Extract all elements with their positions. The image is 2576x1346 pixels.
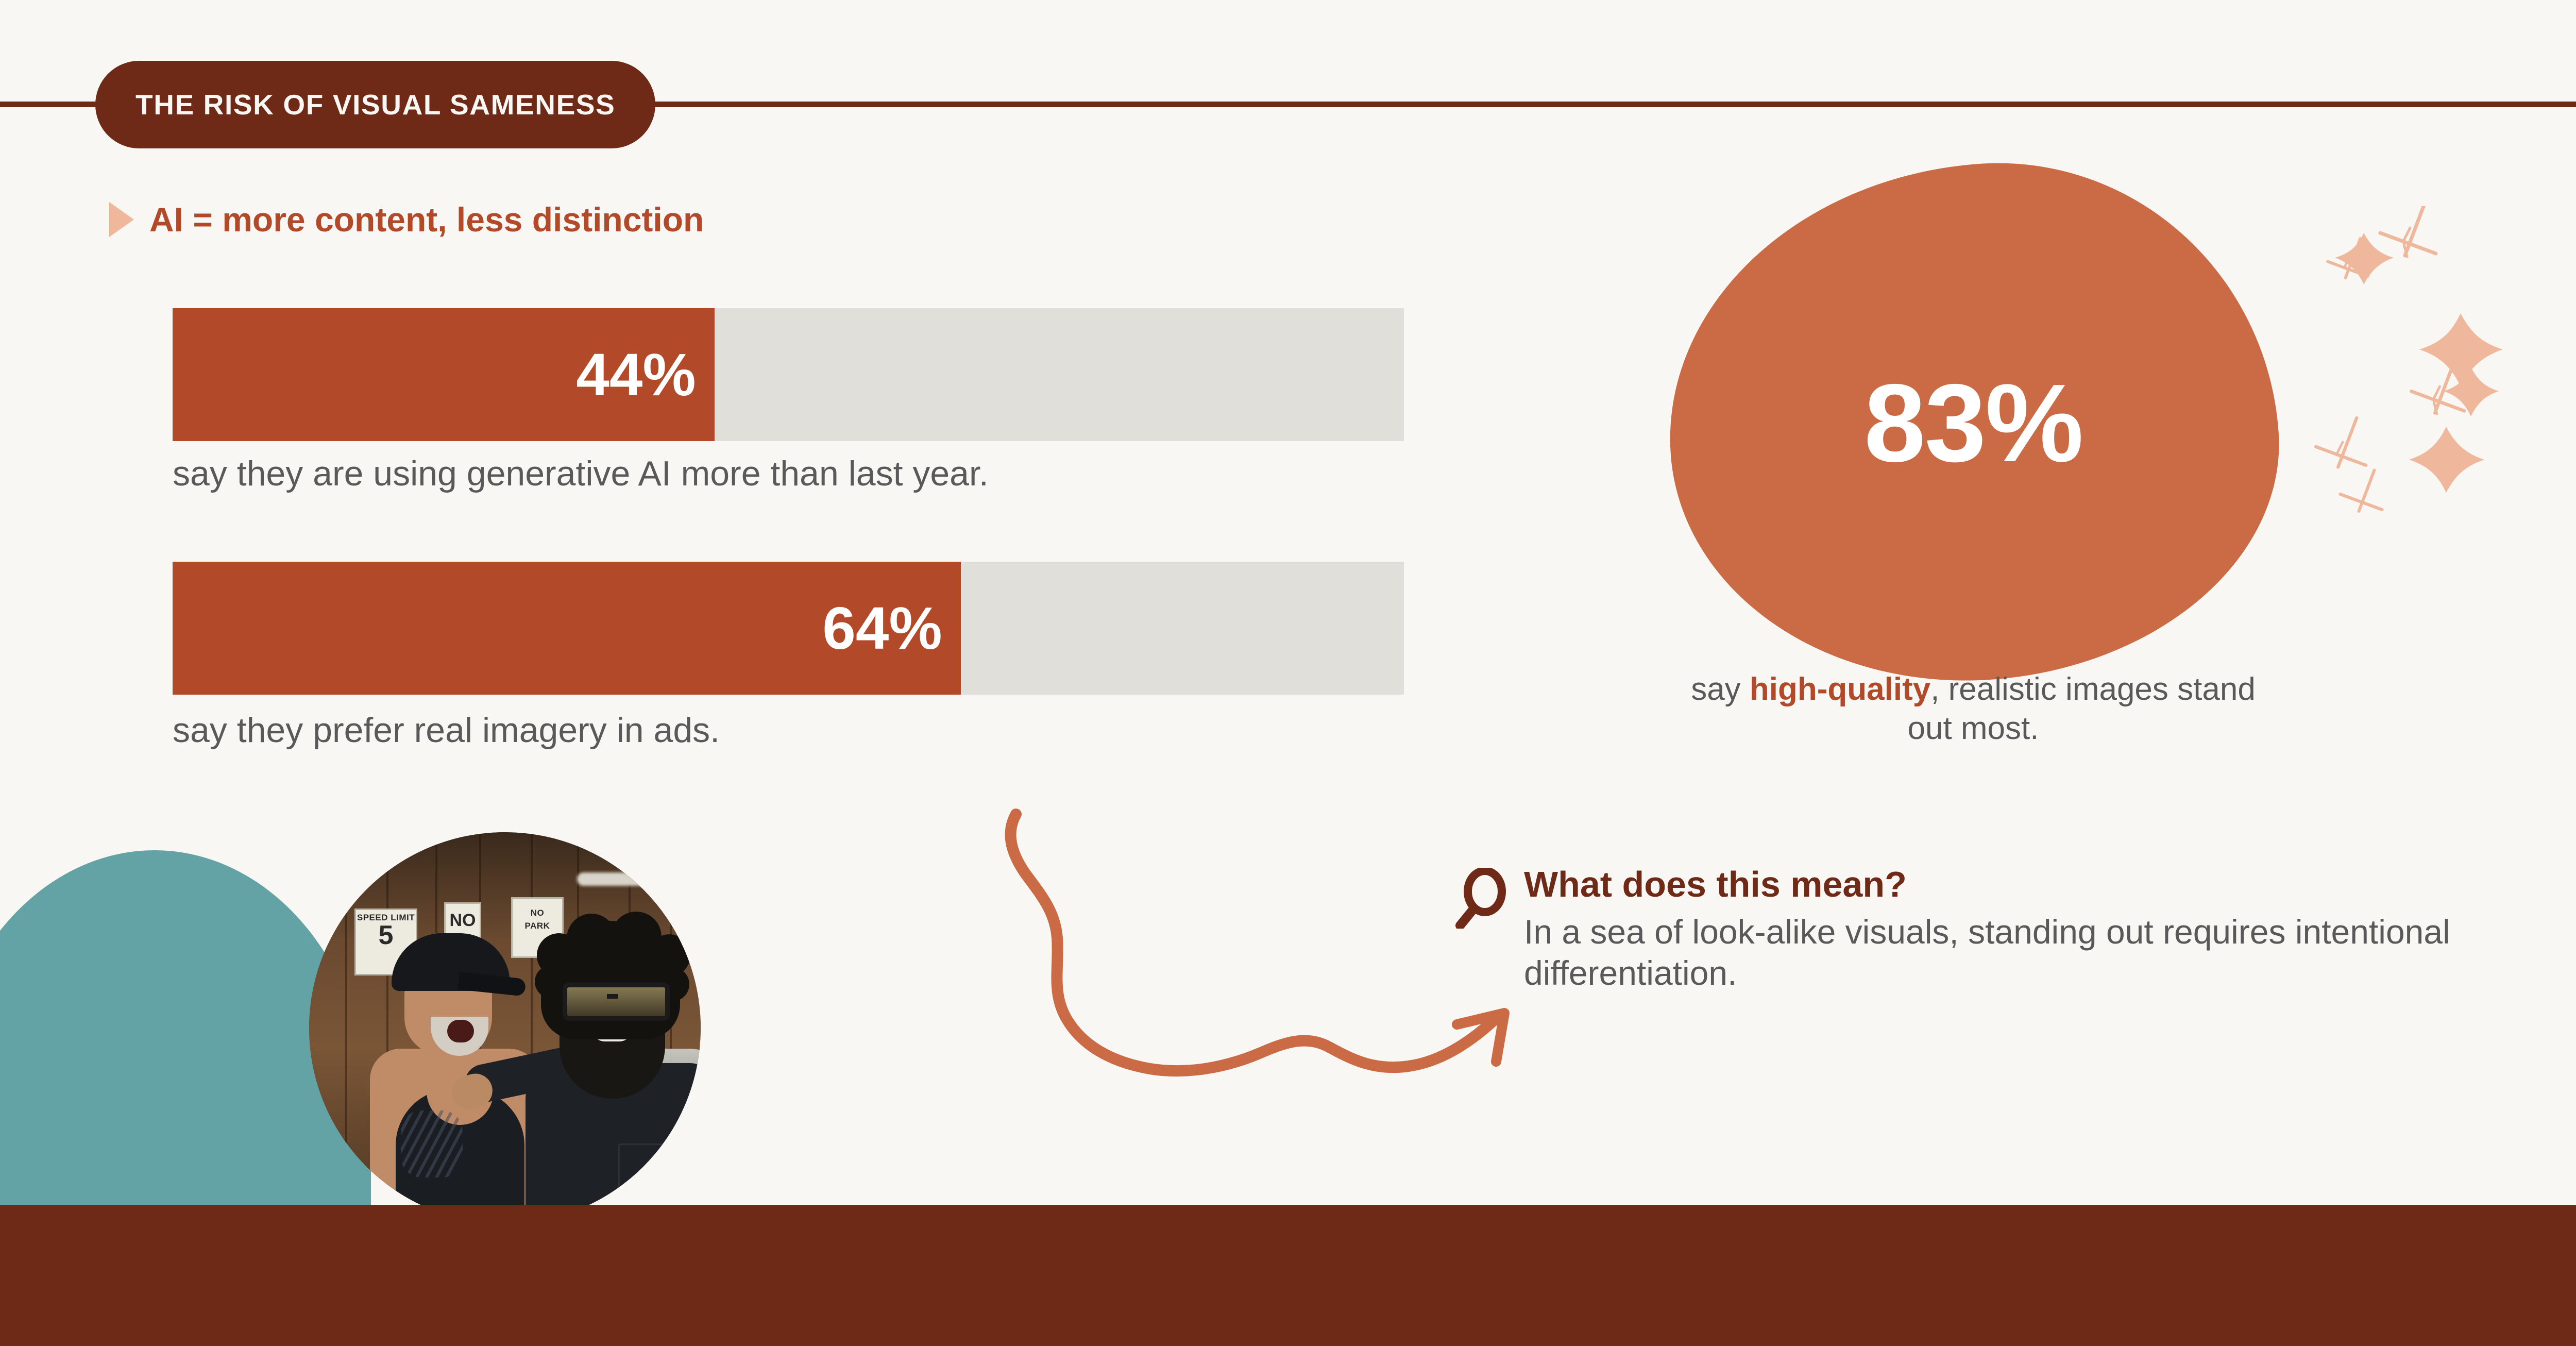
insight-title: What does this mean? bbox=[1524, 866, 2488, 904]
photo-two-men-laughing: SPEED LIMIT5 NO NOPARK bbox=[309, 832, 701, 1224]
stat-blob-caption: say high-quality, realistic images stand… bbox=[1669, 670, 2277, 748]
bar-value-2: 64% bbox=[822, 598, 942, 658]
bar-track-2: 64% bbox=[173, 562, 1404, 695]
sparkles-decoration bbox=[2303, 206, 2576, 515]
play-triangle-icon bbox=[109, 202, 134, 237]
bar-fill-2: 64% bbox=[173, 562, 961, 695]
sparkle-cross-icon bbox=[2341, 470, 2382, 512]
photo-ceiling-light bbox=[577, 872, 670, 886]
sparkle-cross-icon bbox=[2316, 418, 2366, 467]
sparkle-star-icon bbox=[2409, 427, 2484, 493]
stat-blob-value: 83% bbox=[1864, 367, 2082, 478]
insight-block: What does this mean? In a sea of look-al… bbox=[1453, 866, 2488, 994]
blob-caption-pre: say bbox=[1691, 671, 1750, 707]
bar-caption-1: say they are using generative AI more th… bbox=[173, 453, 989, 494]
sparkle-star-icon bbox=[2335, 233, 2394, 284]
blob-caption-post: , realistic images stand out most. bbox=[1908, 671, 2256, 746]
footer-bar: iStock™ VisualGPS bbox=[0, 1205, 2576, 1346]
kicker: AI = more content, less distinction bbox=[109, 200, 704, 239]
magnifier-icon bbox=[1453, 868, 1510, 929]
sparkle-star-icon bbox=[2419, 313, 2503, 386]
blob-caption-highlight: high-quality bbox=[1750, 671, 1930, 707]
photo-man-left-tattoo bbox=[401, 1111, 463, 1177]
insight-body: In a sea of look-alike visuals, standing… bbox=[1524, 911, 2488, 994]
bar-value-1: 44% bbox=[576, 345, 696, 405]
photo-man-right-glasses bbox=[563, 983, 670, 1021]
sparkle-star-icon bbox=[2444, 367, 2499, 416]
header-badge: THE RISK OF VISUAL SAMENESS bbox=[95, 61, 655, 148]
kicker-label: AI = more content, less distinction bbox=[149, 200, 704, 239]
bar-caption-2: say they prefer real imagery in ads. bbox=[173, 710, 720, 750]
stat-blob-83: 83% bbox=[1652, 144, 2295, 701]
bar-track-1: 44% bbox=[173, 308, 1404, 441]
infographic-canvas: THE RISK OF VISUAL SAMENESS AI = more co… bbox=[0, 0, 2576, 1346]
bar-fill-1: 44% bbox=[173, 308, 715, 441]
sparkle-cross-icon bbox=[2380, 206, 2436, 257]
header-badge-label: THE RISK OF VISUAL SAMENESS bbox=[135, 88, 615, 121]
